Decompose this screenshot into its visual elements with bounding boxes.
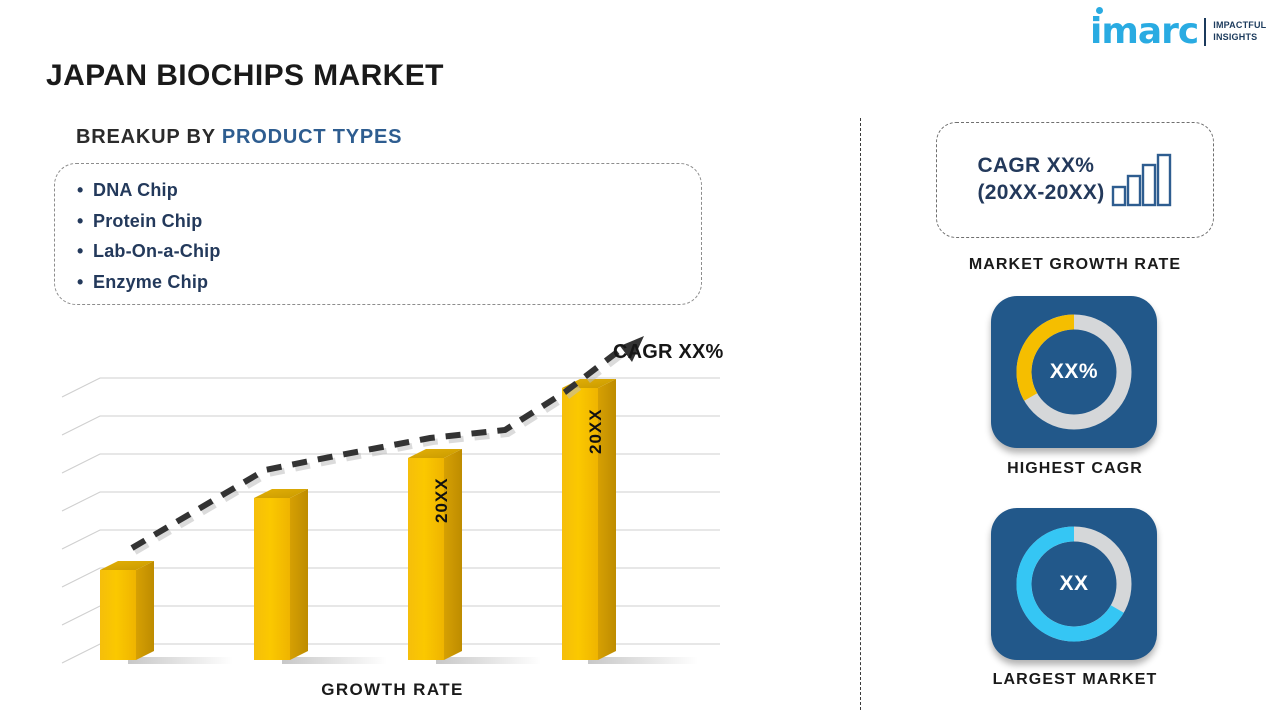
breakup-heading: BREAKUP BY PRODUCT TYPES	[76, 126, 402, 149]
cagr-card-line2: (20XX-20XX)	[977, 180, 1104, 207]
infographic-page: imarc IMPACTFUL INSIGHTS JAPAN BIOCHIPS …	[0, 0, 1280, 720]
logo-divider	[1204, 18, 1206, 46]
cagr-card-line1: CAGR XX%	[977, 153, 1104, 180]
cagr-callout-label: CAGR XX%	[613, 341, 724, 364]
largest-market-card: XX	[991, 508, 1157, 660]
logo-dot-icon	[1096, 7, 1103, 14]
chart-canvas	[60, 330, 760, 675]
list-item: •DNA Chip	[77, 175, 701, 206]
logo-tagline-line1: IMPACTFUL	[1213, 20, 1266, 32]
list-item-label: Enzyme Chip	[93, 272, 208, 292]
logo-tagline: IMPACTFUL INSIGHTS	[1213, 20, 1266, 43]
bar-1	[100, 561, 154, 660]
market-growth-rate-card: CAGR XX% (20XX-20XX)	[936, 122, 1214, 238]
chart-axis-label: GROWTH RATE	[60, 680, 725, 700]
imarc-logo: imarc IMPACTFUL INSIGHTS	[1090, 10, 1270, 54]
bullet-icon: •	[77, 175, 93, 206]
list-item-label: DNA Chip	[93, 180, 178, 200]
cagr-card-text: CAGR XX% (20XX-20XX)	[977, 153, 1104, 207]
logo-wordmark: imarc	[1090, 14, 1198, 50]
donut-center-label: XX	[1059, 572, 1088, 596]
list-item: •Lab-On-a-Chip	[77, 236, 701, 267]
growth-rate-chart: 20XX 20XX CAGR XX% GROWTH RATE	[60, 330, 760, 720]
list-item-label: Protein Chip	[93, 211, 202, 231]
product-types-box: •DNA Chip •Protein Chip •Lab-On-a-Chip •…	[54, 163, 702, 305]
list-item: •Enzyme Chip	[77, 267, 701, 298]
bar-label-3: 20XX	[432, 477, 452, 523]
caption-largest-market: LARGEST MARKET	[936, 671, 1214, 689]
chart-gridlines	[62, 378, 720, 663]
bullet-icon: •	[77, 236, 93, 267]
bullet-icon: •	[77, 267, 93, 298]
bar-label-4: 20XX	[586, 408, 606, 454]
trend-line	[132, 350, 623, 552]
logo-wordmark-text: imarc	[1090, 11, 1198, 52]
page-title: JAPAN BIOCHIPS MARKET	[46, 59, 444, 93]
logo-tagline-line2: INSIGHTS	[1213, 32, 1266, 44]
donut-center-label: XX%	[1050, 360, 1098, 384]
caption-highest-cagr: HIGHEST CAGR	[936, 460, 1214, 478]
list-item-label: Lab-On-a-Chip	[93, 241, 221, 261]
highest-cagr-card: XX%	[991, 296, 1157, 448]
ascending-bars-icon	[1111, 151, 1173, 209]
bullet-icon: •	[77, 206, 93, 237]
breakup-prefix: BREAKUP BY	[76, 126, 222, 148]
breakup-highlight: PRODUCT TYPES	[222, 126, 402, 148]
caption-market-growth-rate: MARKET GROWTH RATE	[936, 256, 1214, 274]
panel-divider	[860, 118, 861, 710]
bar-2	[254, 489, 308, 660]
list-item: •Protein Chip	[77, 206, 701, 237]
